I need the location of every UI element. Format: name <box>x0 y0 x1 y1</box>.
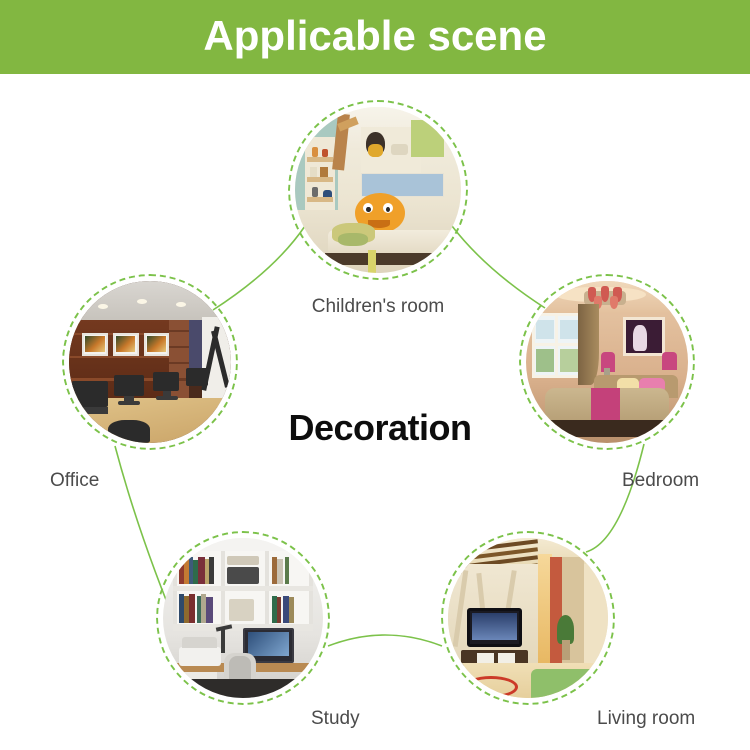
bedroom-dashed-ring <box>519 274 695 450</box>
scene-label-childrens-room: Children's room <box>288 296 468 318</box>
scene-label-bedroom: Bedroom <box>622 470 699 492</box>
living-room-circle[interactable] <box>441 531 615 705</box>
study-dashed-ring <box>156 531 330 705</box>
bedroom-circle[interactable] <box>519 274 695 450</box>
center-label: Decoration <box>230 407 530 449</box>
office-dashed-ring <box>62 274 238 450</box>
scene-diagram: Children's room <box>0 74 750 750</box>
applicable-scene-infographic: Applicable scene <box>0 0 750 750</box>
childrens-room-circle[interactable] <box>288 100 468 280</box>
study-circle[interactable] <box>156 531 330 705</box>
page-title: Applicable scene <box>0 0 750 74</box>
connector-bedroom-living <box>586 444 644 552</box>
childrens-room-dashed-ring <box>288 100 468 280</box>
scene-label-study: Study <box>311 708 360 730</box>
header-banner: Applicable scene <box>0 0 750 74</box>
scene-label-living-room: Living room <box>597 708 695 730</box>
connector-living-study <box>328 635 442 646</box>
living-room-dashed-ring <box>441 531 615 705</box>
scene-label-office: Office <box>50 470 99 492</box>
office-circle[interactable] <box>62 274 238 450</box>
